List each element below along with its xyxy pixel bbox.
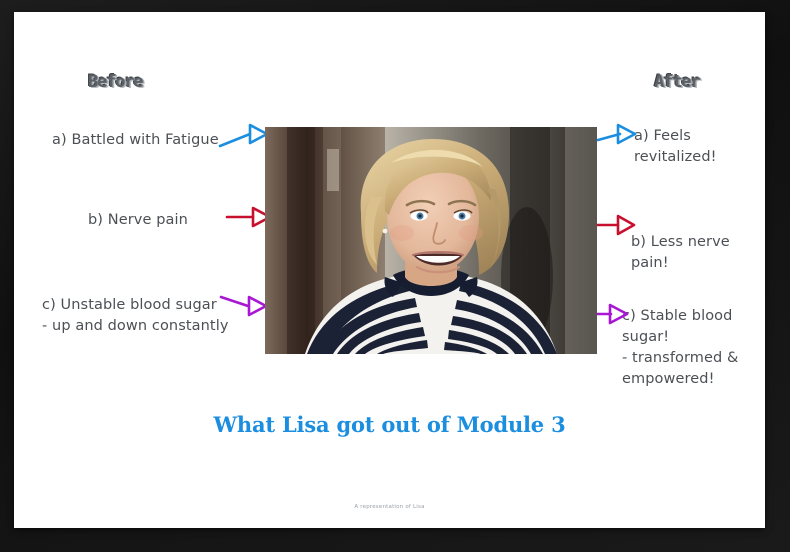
blue-arrow-after-a xyxy=(598,120,640,148)
after-item-b-text: b) Less nerve pain! xyxy=(631,232,765,274)
purple-arrow-before-c xyxy=(221,293,271,321)
before-item-b-text: b) Nerve pain xyxy=(88,210,188,231)
lisa-photo xyxy=(265,127,597,354)
before-item-c-text: c) Unstable blood sugar - up and down co… xyxy=(42,295,229,337)
slide-canvas: Before After a) Battled with Fatigue b) … xyxy=(14,12,765,528)
after-item-a-text: a) Feels revitalized! xyxy=(634,126,765,168)
after-column-heading: After xyxy=(654,72,699,92)
after-item-c-text: c) Stable blood sugar! - transformed & e… xyxy=(622,306,765,390)
before-item-a-text: a) Battled with Fatigue xyxy=(52,130,219,151)
before-column-heading: Before xyxy=(88,72,142,92)
photo-illustration xyxy=(265,127,597,354)
red-arrow-after-b xyxy=(596,214,642,240)
photo-caption: A representation of Lisa xyxy=(14,504,765,510)
slide-outer-frame: Before After a) Battled with Fatigue b) … xyxy=(0,0,790,552)
purple-arrow-after-c xyxy=(597,300,635,326)
module-title: What Lisa got out of Module 3 xyxy=(14,412,765,437)
